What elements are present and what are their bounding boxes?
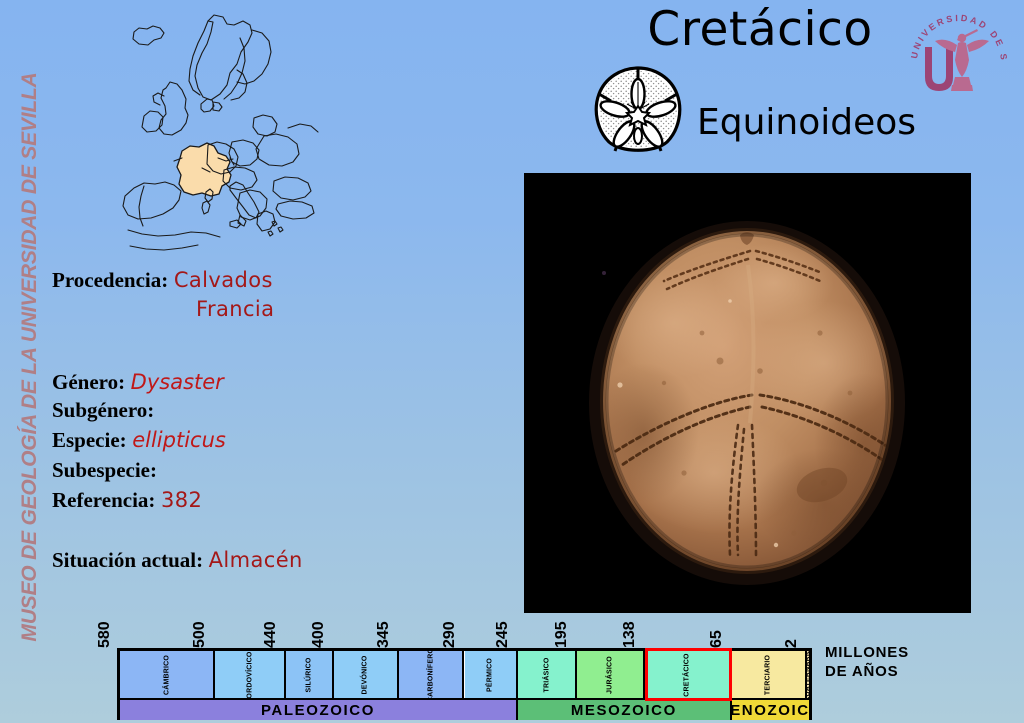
procedencia-country-value: Francia [196, 297, 274, 321]
period-label: ORDOVÍCICO [246, 651, 253, 698]
timescale-eras: PALEOZOICOMESOZOICOCENOZOICO [120, 698, 809, 720]
group-subtitle: Equinoideos [697, 102, 916, 143]
timescale-tick: 2 [807, 618, 808, 648]
geologic-timescale: CÁMBRICOORDOVÍCICOSILÚRICODEVÓNICOCARBON… [0, 618, 1024, 723]
group-heading: Equinoideos [585, 60, 925, 160]
procedencia-value: Calvados [174, 268, 273, 292]
period-label: JURÁSICO [607, 656, 614, 694]
genero-value: Dysaster [131, 370, 224, 394]
field-especie: Especie: ellipticus [52, 428, 226, 453]
logo-monogram-u [925, 47, 953, 91]
tick-label: 580 [96, 621, 114, 648]
timescale-era-mesozoico: MESOZOICO [518, 698, 732, 720]
period-label: CRETÁCICO [684, 653, 691, 696]
field-referencia: Referencia: 382 [52, 488, 202, 513]
timescale-tick: 345 [399, 618, 400, 648]
tick-label: 138 [621, 621, 639, 648]
timescale-unit-label: MILLONES DE AÑOS [825, 644, 909, 682]
timescale-period-jursico: JURÁSICO [577, 651, 645, 698]
subespecie-label: Subespecie: [52, 458, 157, 482]
timescale-tick: 580 [120, 618, 121, 648]
situacion-label: Situación actual: [52, 548, 203, 572]
timescale-era-paleozoico: PALEOZOICO [120, 698, 518, 720]
timescale-period-carbonfero: CARBONÍFERO [399, 651, 464, 698]
field-genero: Género: Dysaster [52, 370, 224, 395]
timescale-period-trisico: TRIÁSICO [518, 651, 577, 698]
situacion-value: Almacén [209, 548, 303, 572]
genero-label: Género: [52, 370, 125, 394]
field-subespecie: Subespecie: [52, 458, 157, 483]
especie-label: Especie: [52, 428, 127, 452]
period-label: CÁMBRICO [163, 654, 170, 694]
timescale-periods: CÁMBRICOORDOVÍCICOSILÚRICODEVÓNICOCARBON… [120, 651, 809, 698]
referencia-label: Referencia: [52, 488, 155, 512]
timescale-period-cmbrico: CÁMBRICO [120, 651, 215, 698]
logo-giraldillo [935, 29, 989, 91]
tick-label: 195 [553, 621, 571, 648]
subgenero-label: Subgénero: [52, 398, 154, 422]
procedencia-label: Procedencia: [52, 268, 168, 292]
timescale-period-devnico: DEVÓNICO [334, 651, 399, 698]
timescale-period-prmico: PÉRMICO [465, 651, 518, 698]
tick-label: 290 [441, 621, 459, 648]
referencia-value: 382 [161, 488, 202, 512]
timescale-era-cenozoico: CENOZOICO [732, 698, 809, 720]
timescale-period-silrico: SILÚRICO [286, 651, 334, 698]
tick-label: 245 [494, 621, 512, 648]
period-label: TERCIARIO [765, 654, 772, 694]
europe-locator-map [72, 8, 322, 263]
tick-label: 345 [375, 621, 393, 648]
timescale-tick: 195 [577, 618, 578, 648]
tick-label: 65 [708, 630, 726, 648]
universidad-de-sevilla-logo: UNIVERSIDAD DE SEVILLA [905, 5, 1013, 105]
especie-value: ellipticus [132, 428, 226, 452]
timescale-period-cretcico: CRETÁCICO [645, 651, 732, 698]
specimen-card: MUSEO DE GEOLOGÍA DE LA UNIVERSIDAD DE S… [0, 0, 1024, 723]
timescale-frame: CÁMBRICOORDOVÍCICOSILÚRICODEVÓNICOCARBON… [117, 648, 812, 720]
timescale-period-terciario: TERCIARIO [732, 651, 807, 698]
period-label: TRIÁSICO [543, 657, 550, 692]
timescale-period-cuaternario: CUATERNARIO [807, 651, 809, 698]
timescale-tick: 500 [215, 618, 216, 648]
period-label: CUATERNARIO [807, 651, 809, 698]
echinoid-test-icon [585, 60, 691, 160]
field-procedencia: Procedencia: Calvados [52, 268, 273, 293]
period-label: CARBONÍFERO [427, 651, 434, 698]
period-label: SILÚRICO [306, 657, 313, 692]
tick-label: 2 [783, 639, 801, 648]
timescale-tick: 65 [732, 618, 733, 648]
period-label: PÉRMICO [487, 657, 494, 691]
period-label: DEVÓNICO [362, 655, 369, 694]
museum-banner-text: MUSEO DE GEOLOGÍA DE LA UNIVERSIDAD DE S… [18, 7, 42, 707]
tick-label: 500 [191, 621, 209, 648]
tick-label: 440 [262, 621, 280, 648]
specimen-photograph [524, 173, 971, 613]
museum-banner: MUSEO DE GEOLOGÍA DE LA UNIVERSIDAD DE S… [0, 0, 36, 723]
field-procedencia-country: Francia [196, 297, 274, 322]
timescale-tick: 138 [645, 618, 646, 648]
page-title: Cretácico [600, 6, 920, 53]
tick-label: 400 [310, 621, 328, 648]
field-situacion-actual: Situación actual: Almacén [52, 548, 303, 573]
timescale-tick: 440 [286, 618, 287, 648]
europe-map-svg [72, 8, 322, 263]
timescale-tick: 400 [334, 618, 335, 648]
timescale-period-ordovcico: ORDOVÍCICO [215, 651, 286, 698]
field-subgenero: Subgénero: [52, 398, 154, 423]
timescale-tick: 290 [465, 618, 466, 648]
timescale-tick: 245 [518, 618, 519, 648]
